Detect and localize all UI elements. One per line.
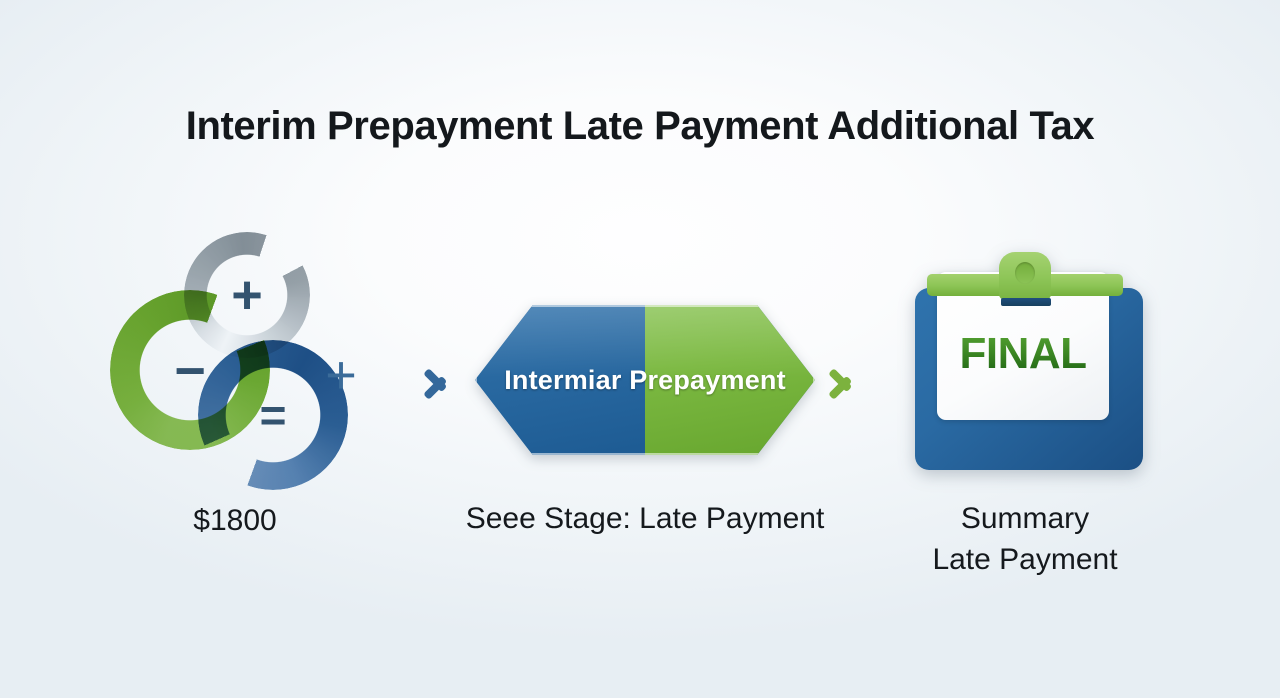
flow-diagram: + − = + $1800 Intermiar Prepayment Seee …: [0, 0, 1280, 698]
chevron-right-green-icon: [829, 358, 855, 402]
hexagon-label: Intermiar Prepayment: [475, 305, 815, 455]
summary-caption: Summary Late Payment: [890, 498, 1160, 581]
chevron-right-blue-icon: [424, 358, 450, 402]
calculator-ring-cluster: + − =: [110, 232, 330, 482]
infographic-canvas: Interim Prepayment Late Payment Addition…: [0, 0, 1280, 698]
clipboard-clip-base: [1001, 298, 1051, 306]
clipboard-clip-hole: [1015, 262, 1035, 284]
hexagon-stage[interactable]: Intermiar Prepayment: [475, 305, 815, 455]
final-stamp-text: FINAL: [937, 332, 1109, 376]
stage-caption: Seee Stage: Late Payment: [415, 498, 875, 539]
plus-symbol-icon: +: [184, 268, 310, 322]
clipboard-final[interactable]: FINAL: [905, 250, 1145, 475]
amount-caption: $1800: [110, 500, 360, 541]
minus-symbol-icon: −: [110, 344, 270, 398]
plus-operator-icon: +: [318, 348, 364, 402]
